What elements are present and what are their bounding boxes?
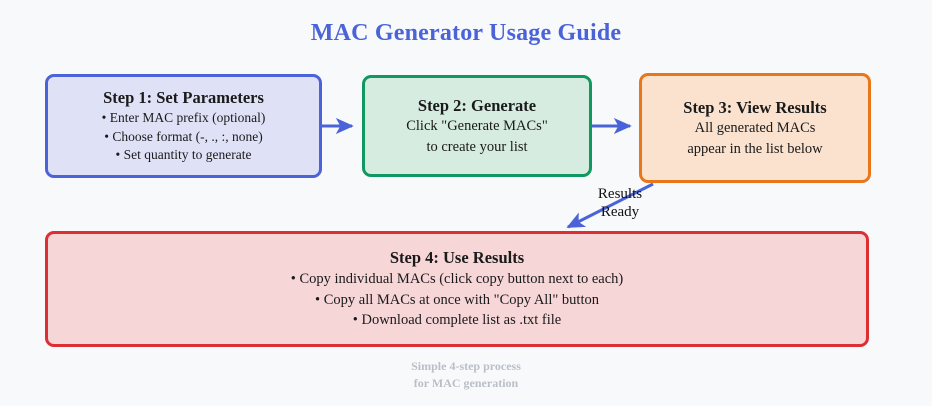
step-2-title: Step 2: Generate — [418, 95, 536, 117]
step-4-title: Step 4: Use Results — [390, 247, 524, 269]
step-3-line-2: appear in the list below — [687, 139, 822, 160]
footer-line-1: Simple 4-step process — [0, 358, 932, 375]
step-1-line-1: • Enter MAC prefix (optional) — [102, 109, 266, 128]
footer-line-2: for MAC generation — [0, 375, 932, 392]
step-4-line-2: • Copy all MACs at once with "Copy All" … — [315, 290, 599, 311]
step-4-line-1: • Copy individual MACs (click copy butto… — [291, 269, 623, 290]
step-1-title: Step 1: Set Parameters — [103, 87, 264, 109]
page-title: MAC Generator Usage Guide — [0, 20, 932, 47]
step-1-line-3: • Set quantity to generate — [116, 146, 252, 165]
step-2-line-2: to create your list — [426, 137, 527, 158]
node-step-2-generate[interactable]: Step 2: Generate Click "Generate MACs" t… — [362, 75, 592, 177]
step-1-line-2: • Choose format (-, ., :, none) — [104, 128, 262, 147]
diagram-canvas: MAC Generator Usage Guide Step 1: Set Pa… — [0, 0, 932, 406]
edge-label-line-2: Ready — [566, 203, 674, 221]
node-step-1-set-parameters[interactable]: Step 1: Set Parameters • Enter MAC prefi… — [45, 74, 322, 178]
step-4-line-3: • Download complete list as .txt file — [353, 310, 561, 331]
footer-note: Simple 4-step process for MAC generation — [0, 358, 932, 393]
node-step-3-view-results[interactable]: Step 3: View Results All generated MACs … — [639, 73, 871, 183]
step-2-line-1: Click "Generate MACs" — [406, 116, 548, 137]
edge-label-results-ready: Results Ready — [566, 185, 674, 222]
edge-label-line-1: Results — [566, 185, 674, 203]
step-3-line-1: All generated MACs — [695, 118, 816, 139]
step-3-title: Step 3: View Results — [683, 97, 826, 119]
node-step-4-use-results[interactable]: Step 4: Use Results • Copy individual MA… — [45, 231, 869, 347]
